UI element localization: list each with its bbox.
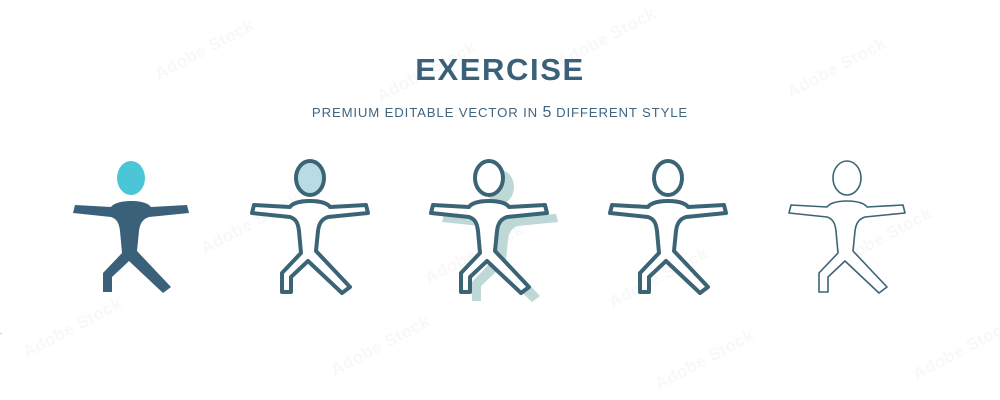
exercise-icon-filled-graphic: [67, 157, 217, 297]
figure-body: [789, 201, 905, 293]
stock-id-watermark: Adobe Stock | #574564770: [0, 276, 2, 392]
figure-head: [475, 161, 503, 195]
page-title: EXERCISE: [0, 54, 1000, 85]
exercise-icon-outline-thin-graphic: [783, 157, 933, 297]
exercise-icon-duotone-shadow-graphic: [425, 157, 575, 297]
exercise-icon-duotone-shadow[interactable]: [420, 157, 580, 297]
figure-head: [117, 161, 145, 195]
watermark-tile: Adobe Stock: [910, 315, 1000, 384]
exercise-icon-outline-bold-graphic: [604, 157, 754, 297]
subtitle-text-after: DIFFERENT STYLE: [552, 105, 688, 120]
watermark-tile: Adobe Stock: [20, 293, 126, 362]
header: EXERCISE PREMIUM EDITABLE VECTOR IN 5 DI…: [0, 0, 1000, 121]
figure-body: [73, 201, 189, 293]
exercise-icon-filled[interactable]: [62, 157, 222, 297]
figure-body: [610, 201, 726, 293]
figure-body: [252, 201, 368, 293]
watermark-tile: Adobe Stock: [328, 311, 434, 380]
subtitle-text-before: PREMIUM EDITABLE VECTOR IN: [312, 105, 543, 120]
page-subtitle: PREMIUM EDITABLE VECTOR IN 5 DIFFERENT S…: [0, 85, 1000, 121]
figure-head: [833, 161, 861, 195]
watermark-tile: Adobe Stock: [652, 325, 758, 394]
figure-head: [654, 161, 682, 195]
subtitle-style-count: 5: [542, 104, 551, 121]
exercise-icon-outline-bold[interactable]: [599, 157, 759, 297]
exercise-icon-two-tone-outline-graphic: [246, 157, 396, 297]
icon-variant-row: [0, 121, 1000, 297]
exercise-icon-outline-thin[interactable]: [778, 157, 938, 297]
figure-body: [431, 201, 547, 293]
exercise-icon-two-tone-outline[interactable]: [241, 157, 401, 297]
figure-head: [296, 161, 324, 195]
